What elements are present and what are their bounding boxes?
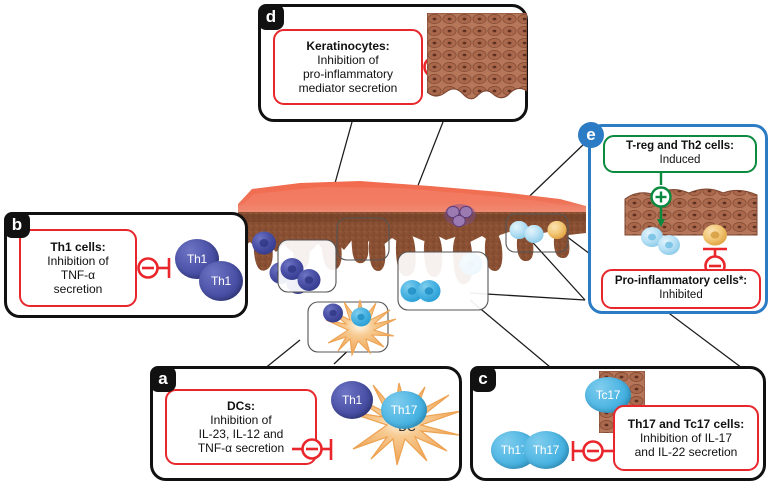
panel-badge-a[interactable]: a [150, 366, 176, 392]
panel-b-cell-th1-2: Th1 [199, 261, 243, 301]
panel-b-line1: Inhibition of [47, 254, 108, 268]
panel-d-title: Keratinocytes: [306, 39, 389, 53]
panel-a-cell-th1: Th1 [331, 381, 373, 419]
panel-c-title: Th17 and Tc17 cells: [628, 417, 745, 431]
panel-b[interactable]: Th1 cells: Inhibition of TNF-α secretion… [4, 212, 248, 318]
panel-badge-c[interactable]: c [470, 366, 496, 392]
panel-c[interactable]: Tc17 Th17 Th17 Th17 and Tc17 cells: Inhi… [470, 366, 766, 481]
figure-canvas: Keratinocytes: Inhibition of pro-inflamm… [0, 0, 770, 485]
panel-a-line3: TNF-α secretion [198, 441, 284, 455]
panel-c-callout: Th17 and Tc17 cells: Inhibition of IL-17… [613, 405, 759, 471]
panel-badge-b[interactable]: b [4, 212, 30, 238]
panel-badge-d[interactable]: d [258, 4, 284, 30]
inhibition-symbol-b [135, 254, 179, 282]
panel-e-induced-value: Induced [660, 154, 701, 166]
panel-d-line2: pro-inflammatory [303, 67, 393, 81]
panel-a-line1: Inhibition of [210, 413, 271, 427]
panel-badge-e[interactable]: e [578, 122, 604, 148]
inhibition-symbol-c [571, 437, 617, 465]
panel-c-cell-th17-2: Th17 [523, 431, 569, 469]
panel-b-callout: Th1 cells: Inhibition of TNF-α secretion [19, 229, 137, 307]
panel-e-induced-title: T-reg and Th2 cells: [626, 140, 734, 152]
panel-e-inhibited-box: Pro-inflammatory cells*: Inhibited [601, 269, 761, 309]
panel-e-artwork [597, 173, 765, 271]
panel-b-title: Th1 cells: [50, 240, 105, 254]
panel-e-induced-box: T-reg and Th2 cells: Induced [603, 135, 757, 173]
panel-b-line3: secretion [54, 282, 103, 296]
panel-c-line1: Inhibition of IL-17 [640, 431, 732, 445]
panel-a-line2: IL-23, IL-12 and [199, 427, 284, 441]
panel-a-title: DCs: [227, 399, 255, 413]
panel-a-cell-th17: Th17 [381, 391, 427, 429]
panel-d[interactable]: Keratinocytes: Inhibition of pro-inflamm… [258, 4, 528, 122]
panel-d-callout: Keratinocytes: Inhibition of pro-inflamm… [273, 29, 423, 105]
panel-e-inhibited-value: Inhibited [659, 289, 702, 301]
panel-e[interactable]: T-reg and Th2 cells: Induced [588, 124, 768, 314]
panel-d-line1: Inhibition of [317, 53, 378, 67]
panel-d-line3: mediator secretion [299, 81, 398, 95]
panel-c-line2: and IL-22 secretion [635, 445, 738, 459]
panel-a[interactable]: DCs: Inhibition of IL-23, IL-12 and TNF-… [150, 366, 462, 481]
panel-e-inhibited-title: Pro-inflammatory cells*: [615, 275, 747, 287]
keratinocyte-sheet-d [427, 13, 527, 117]
panel-b-line2: TNF-α [61, 268, 95, 282]
